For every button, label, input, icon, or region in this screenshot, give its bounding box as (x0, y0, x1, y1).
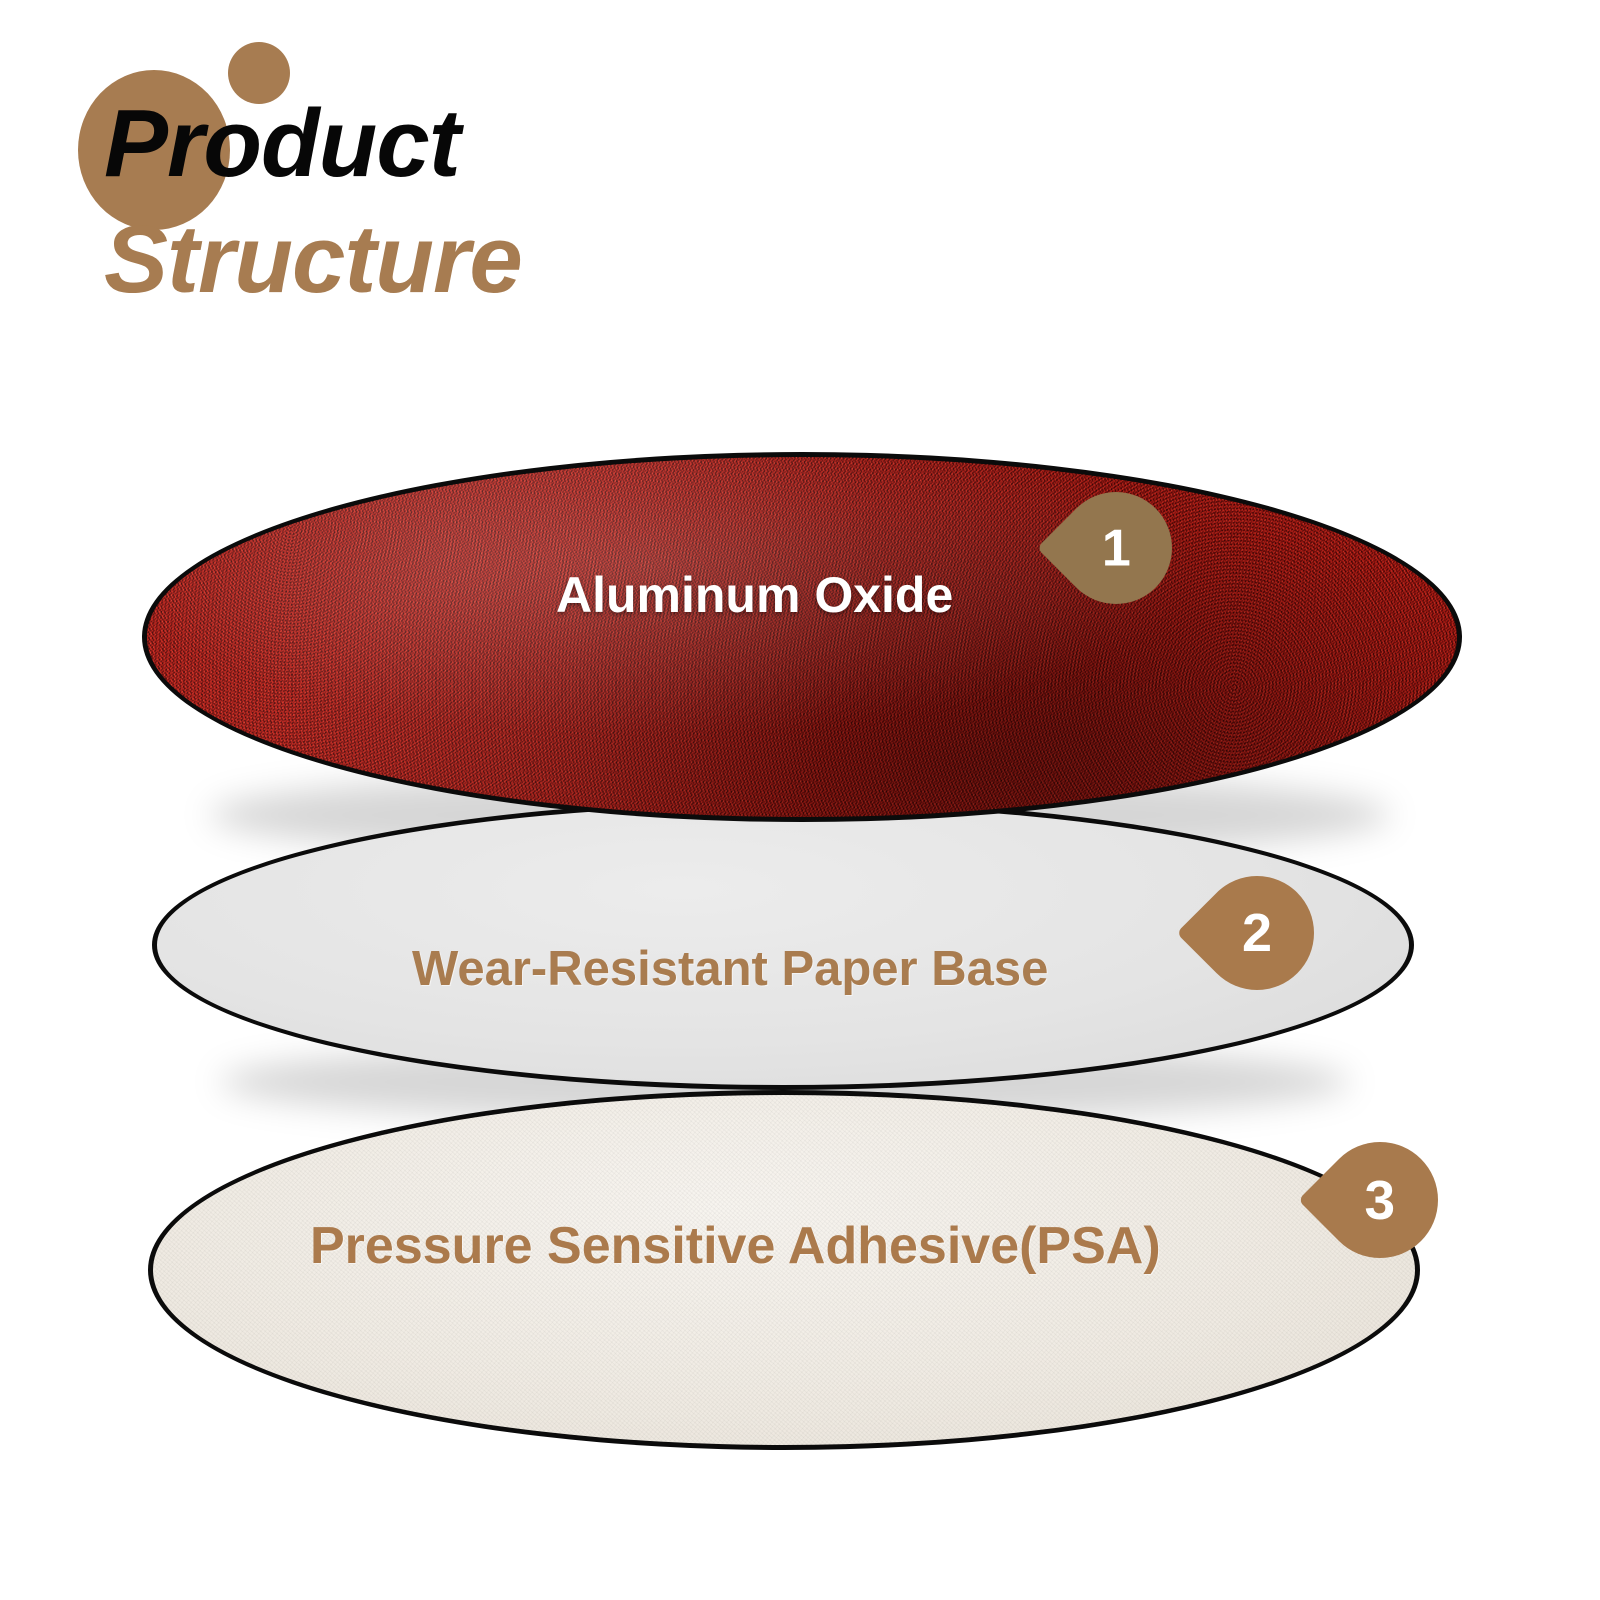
layer-1-aluminum-oxide (142, 452, 1462, 822)
layer-1-highlight-overlay (147, 457, 1457, 817)
product-layer-diagram: 1 2 3 Aluminum Oxide Wear-Resistant Pape… (0, 0, 1600, 1600)
layer-2-label: Wear-Resistant Paper Base (412, 945, 1048, 994)
layer-2-badge-number: 2 (1242, 906, 1272, 960)
layer-3-badge-number: 3 (1365, 1173, 1396, 1228)
layer-1-badge-number: 1 (1102, 522, 1131, 574)
layer-1-disc-surface (142, 452, 1462, 822)
layer-1-label: Aluminum Oxide (556, 570, 953, 620)
layer-3-label: Pressure Sensitive Adhesive(PSA) (310, 1220, 1161, 1272)
